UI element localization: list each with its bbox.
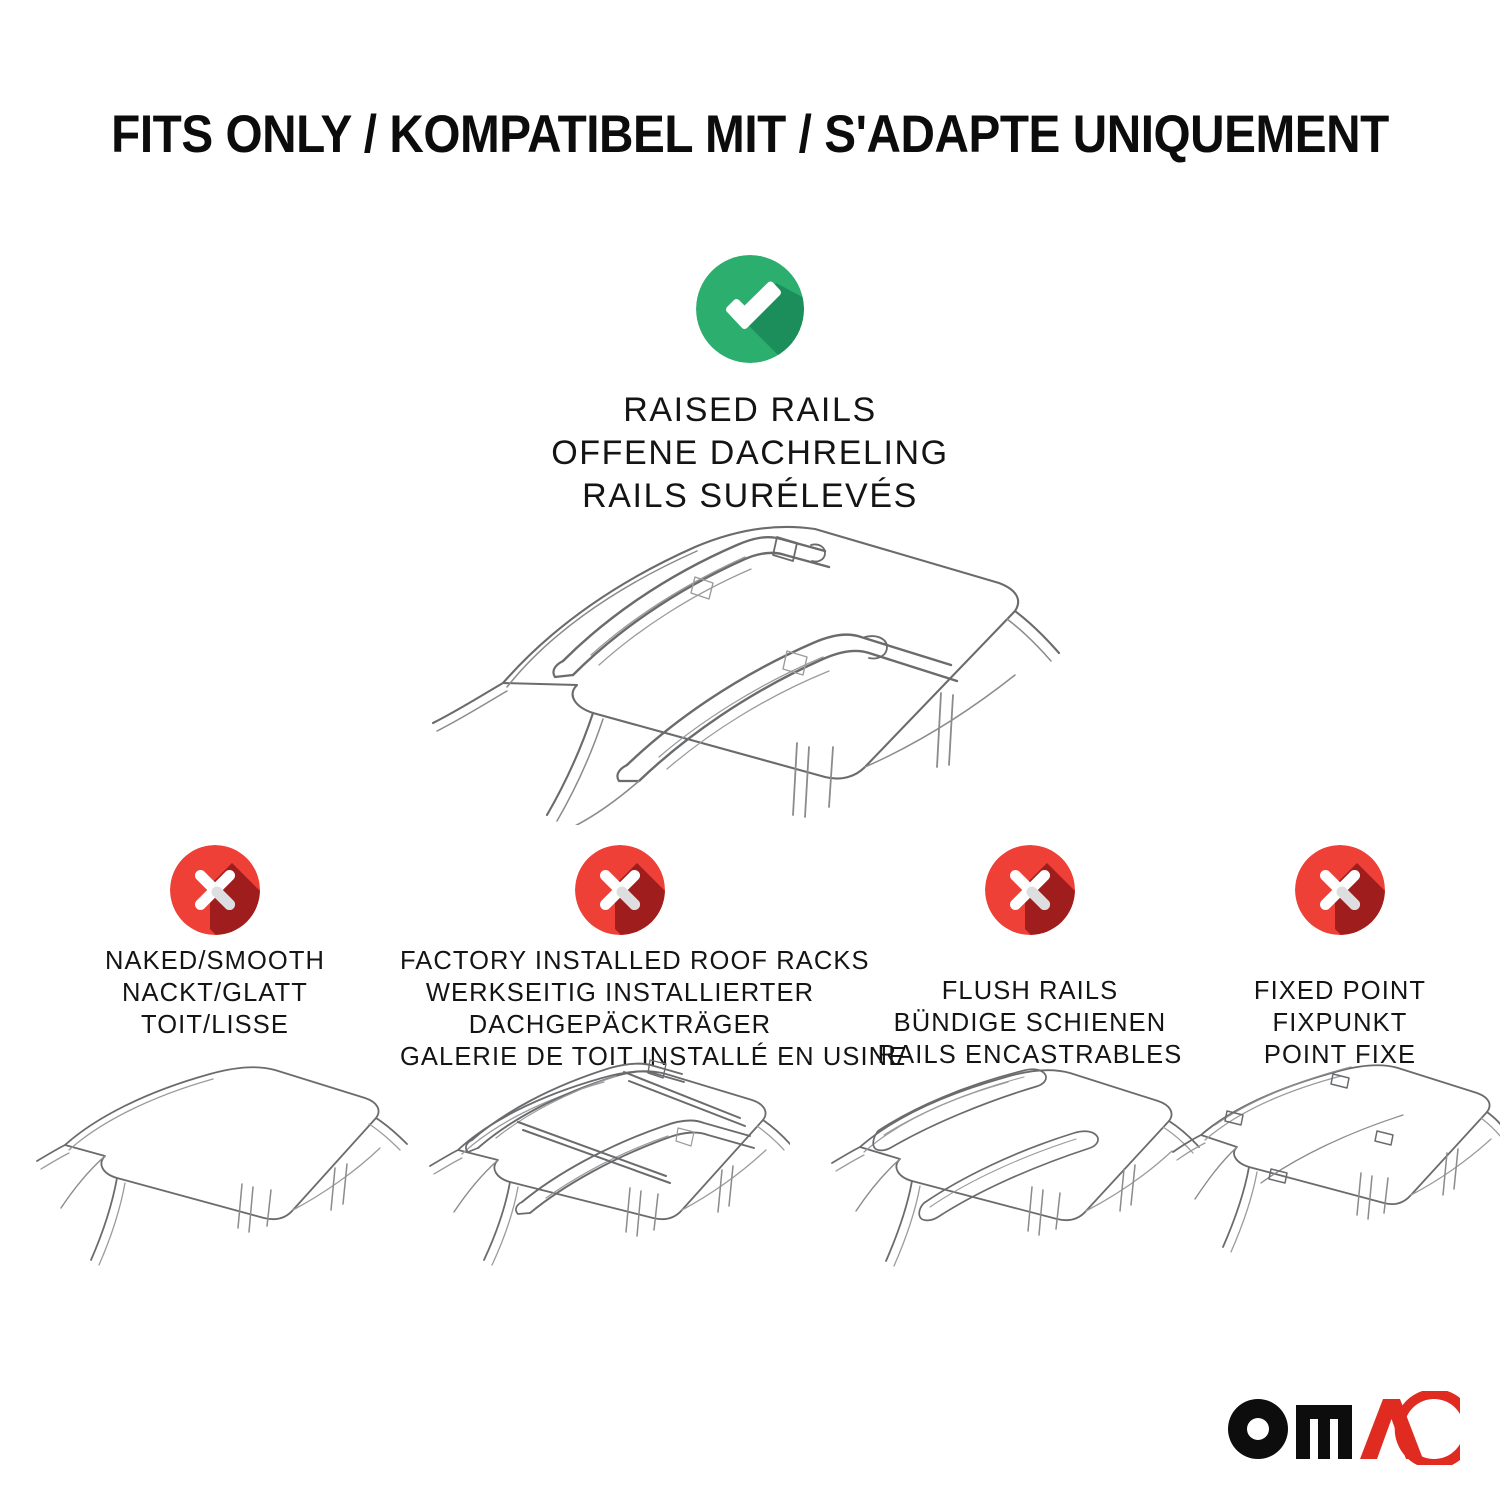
car-roof-raised-rails-illustration bbox=[395, 515, 1105, 825]
page-title: FITS ONLY / KOMPATIBEL MIT / S'ADAPTE UN… bbox=[75, 104, 1425, 165]
logo-letter-m bbox=[1296, 1405, 1352, 1459]
label-line: NAKED/SMOOTH bbox=[30, 945, 400, 977]
logo-letter-a bbox=[1360, 1399, 1423, 1459]
car-roof-flush-rails-illustration bbox=[818, 1057, 1208, 1289]
incompatible-item-flush-rails bbox=[985, 845, 1075, 935]
incompatible-item-naked-smooth bbox=[170, 845, 260, 935]
compatible-block: RAISED RAILS OFFENE DACHRELING RAILS SUR… bbox=[0, 255, 1500, 518]
label-line: WERKSEITIG INSTALLIERTER bbox=[400, 977, 840, 1009]
x-circle-icon bbox=[170, 845, 260, 935]
incompatible-item-fixed-point bbox=[1295, 845, 1385, 935]
label-line: TOIT/LISSE bbox=[30, 1009, 400, 1041]
omac-logo bbox=[1220, 1391, 1460, 1465]
x-circle-icon bbox=[985, 845, 1075, 935]
label-line: FIXED POINT bbox=[1180, 975, 1500, 1007]
label-line: FLUSH RAILS bbox=[855, 975, 1205, 1007]
logo-letter-o bbox=[1228, 1399, 1288, 1459]
label-line: DACHGEPÄCKTRÄGER bbox=[400, 1009, 840, 1041]
compatible-label-stack: RAISED RAILS OFFENE DACHRELING RAILS SUR… bbox=[551, 389, 948, 518]
incompatible-label-stack-naked-smooth: NAKED/SMOOTH NACKT/GLATT TOIT/LISSE bbox=[30, 945, 400, 1041]
check-circle-icon bbox=[696, 255, 804, 363]
compatible-label-en: RAISED RAILS bbox=[551, 389, 948, 432]
label-line: FACTORY INSTALLED ROOF RACKS bbox=[400, 945, 840, 977]
label-line: NACKT/GLATT bbox=[30, 977, 400, 1009]
label-line: BÜNDIGE SCHIENEN bbox=[855, 1007, 1205, 1039]
car-roof-fixed-point-illustration bbox=[1165, 1057, 1500, 1289]
incompatible-item-factory-rack bbox=[575, 845, 665, 935]
x-circle-icon bbox=[575, 845, 665, 935]
car-roof-factory-rack-illustration bbox=[410, 1050, 790, 1290]
compatible-label-fr: RAILS SURÉLEVÉS bbox=[551, 475, 948, 518]
incompatible-row: NAKED/SMOOTH NACKT/GLATT TOIT/LISSE bbox=[0, 845, 1500, 1305]
label-line: FIXPUNKT bbox=[1180, 1007, 1500, 1039]
car-roof-naked-smooth-illustration bbox=[35, 1060, 415, 1290]
fitment-infographic: FITS ONLY / KOMPATIBEL MIT / S'ADAPTE UN… bbox=[0, 0, 1500, 1500]
compatible-label-de: OFFENE DACHRELING bbox=[551, 432, 948, 475]
x-circle-icon bbox=[1295, 845, 1385, 935]
